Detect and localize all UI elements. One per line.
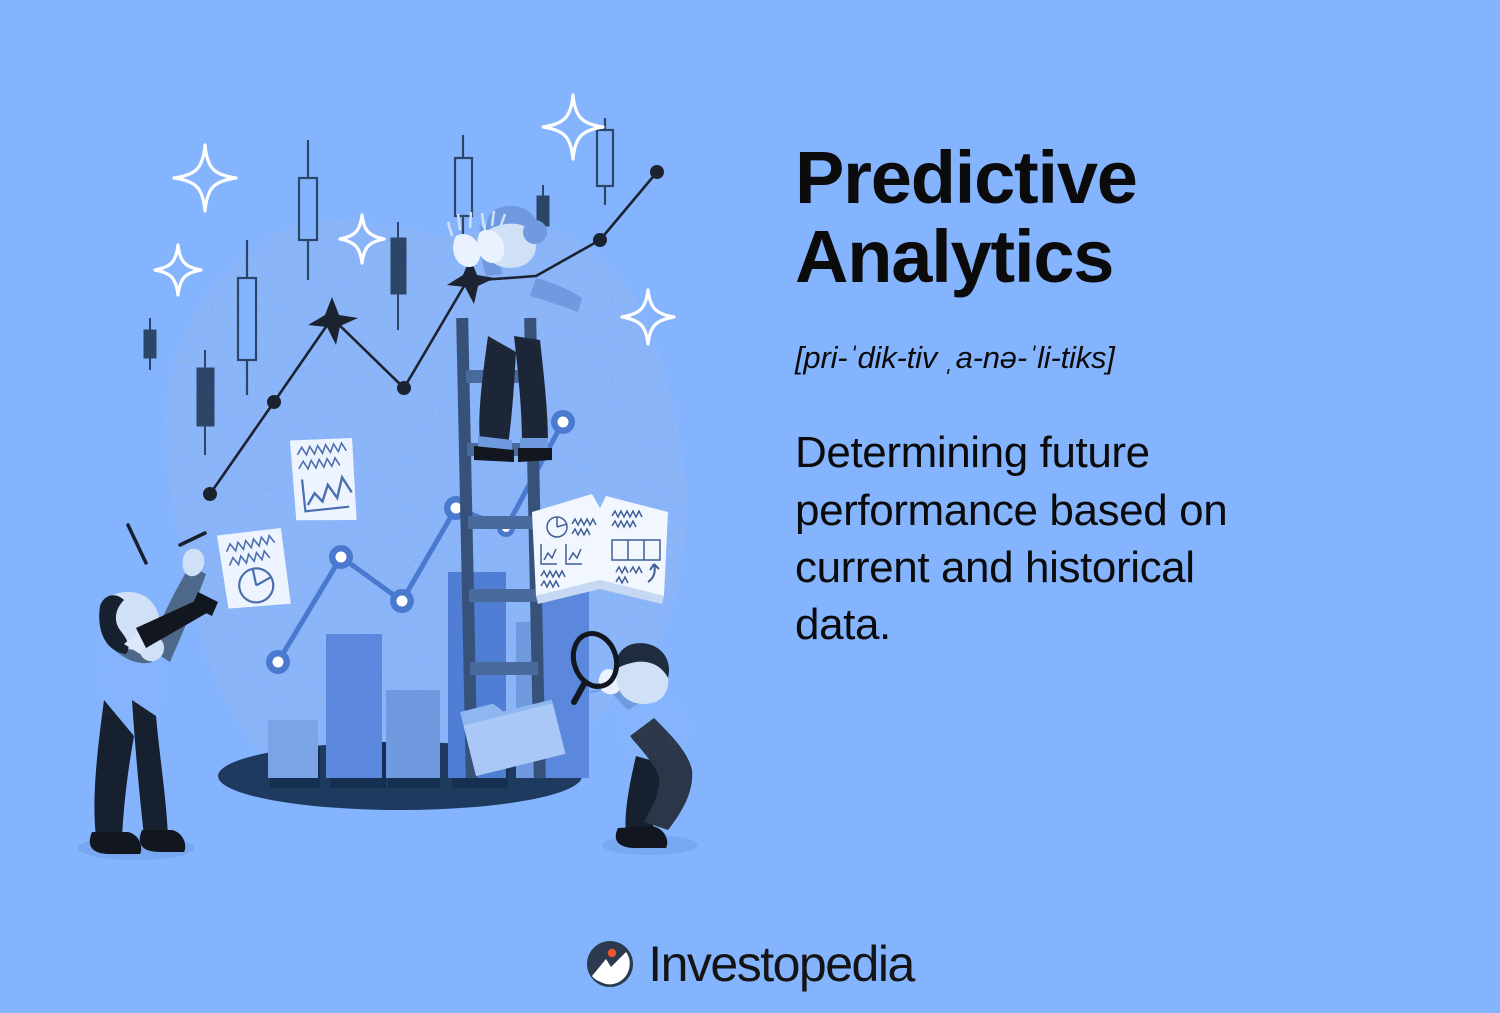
poster-canvas: Predictive Analytics [pri-ˈdik-tiv ˌa-nə…	[0, 0, 1500, 1013]
title-line-2: Analytics	[795, 215, 1113, 298]
bar	[268, 720, 318, 778]
illustration-predictive-analytics	[0, 0, 790, 900]
pronunciation: [pri-ˈdik-tiv ˌa-nə-ˈli-tiks]	[795, 340, 1315, 376]
investopedia-i-mark-icon	[586, 940, 634, 988]
page-title: Predictive Analytics	[795, 138, 1315, 296]
bar	[386, 690, 440, 778]
floating-paper	[288, 434, 361, 526]
open-book	[532, 494, 668, 604]
investopedia-logo[interactable]: Investopedia	[0, 939, 1500, 989]
bar	[326, 634, 382, 778]
logo-orange-dot	[608, 949, 616, 957]
brand-name: Investopedia	[648, 939, 914, 989]
definition-text: Determining future performance based on …	[795, 424, 1295, 653]
term-text-column: Predictive Analytics [pri-ˈdik-tiv ˌa-nə…	[795, 138, 1315, 653]
title-line-1: Predictive	[795, 136, 1137, 219]
